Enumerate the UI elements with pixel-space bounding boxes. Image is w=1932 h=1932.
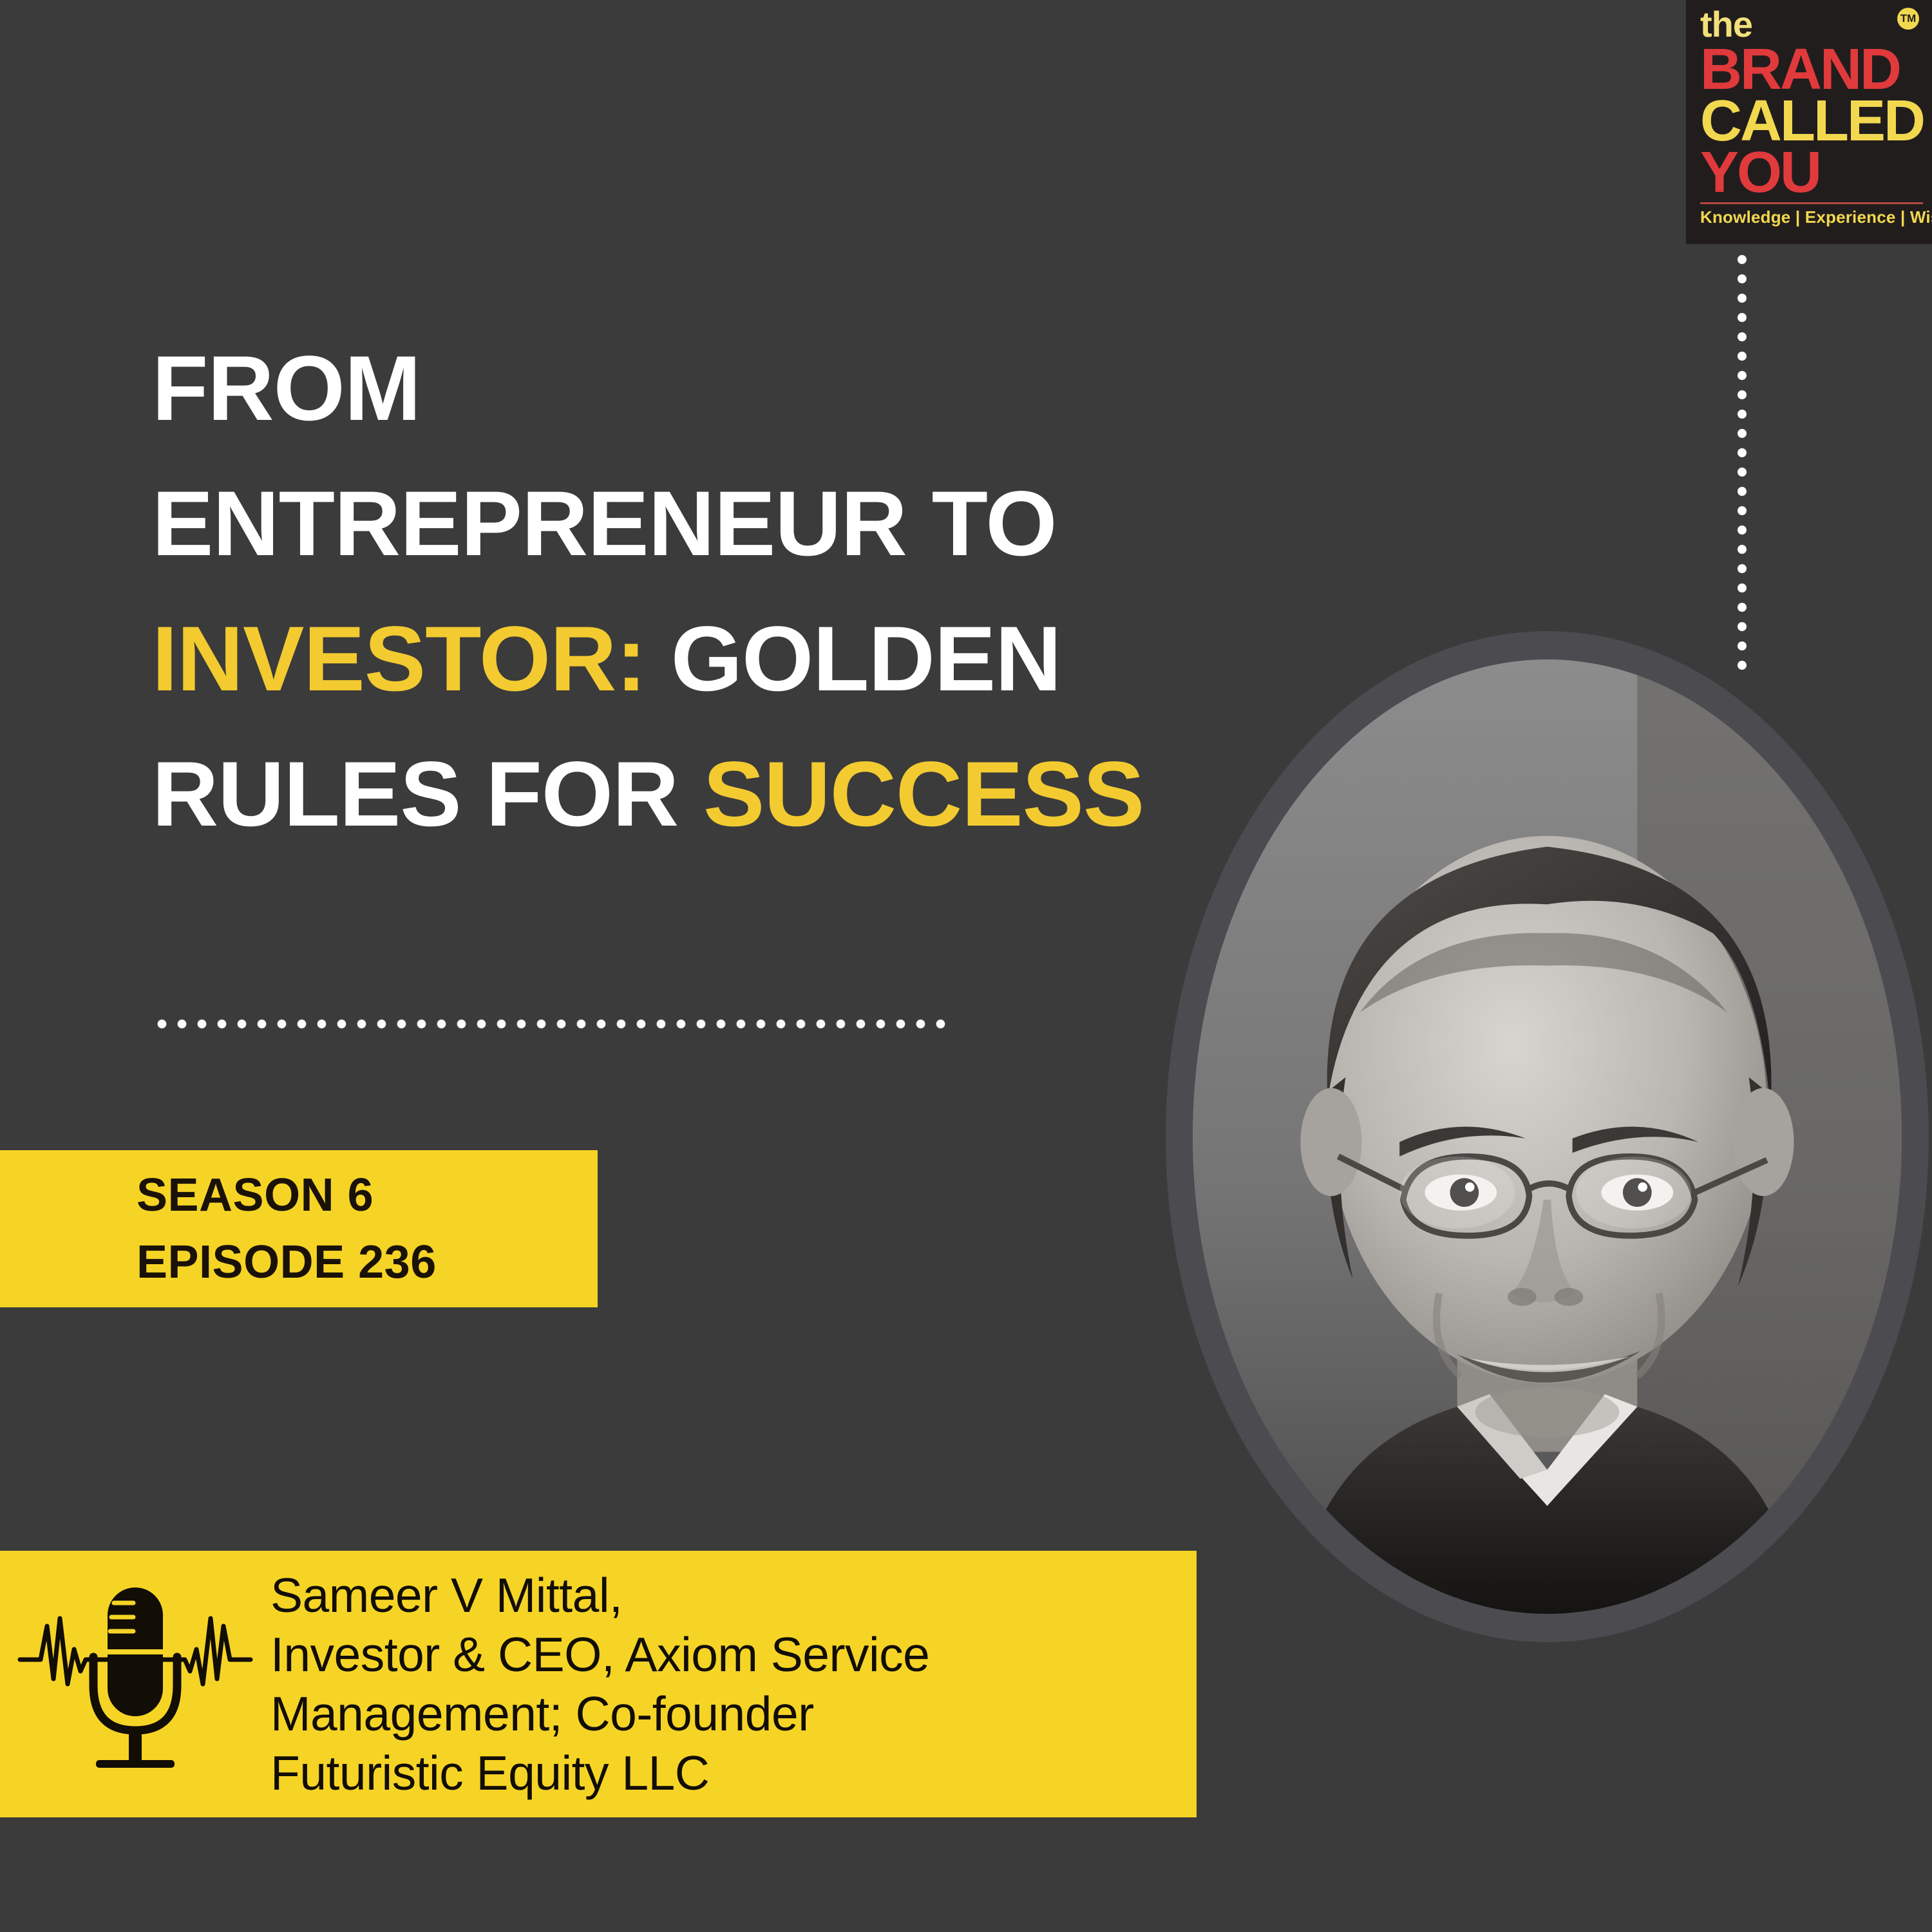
- brand-logo-called: CALLED: [1700, 95, 1923, 147]
- season-label: SEASON 6: [137, 1162, 598, 1229]
- episode-title: FROM ENTREPRENEUR TO INVESTOR: GOLDEN RU…: [152, 341, 1195, 842]
- portrait-illustration: [1193, 659, 1902, 1614]
- brand-logo: TM the BRAND CALLED YOU Knowledge | Expe…: [1686, 0, 1932, 244]
- guest-details: Sameer V Mittal, Investor & CEO, Axiom S…: [270, 1566, 1197, 1803]
- brand-logo-tagline: Knowledge | Experience | Wisdom: [1700, 207, 1923, 227]
- title-line-4-rest: RULES FOR: [152, 743, 703, 846]
- microphone-waveform-icon: [16, 1587, 254, 1781]
- brand-logo-inner: TM the BRAND CALLED YOU Knowledge | Expe…: [1700, 4, 1923, 244]
- trademark-icon: TM: [1897, 8, 1919, 30]
- title-accent-success: SUCCESS: [703, 743, 1144, 846]
- title-line-3-rest: GOLDEN: [646, 608, 1061, 710]
- podcast-cover-art: TM the BRAND CALLED YOU Knowledge | Expe…: [0, 0, 1932, 1932]
- brand-logo-you: YOU: [1700, 147, 1923, 198]
- brand-logo-brand: BRAND: [1700, 44, 1923, 95]
- guest-info-bar: Sameer V Mittal, Investor & CEO, Axiom S…: [0, 1551, 1197, 1817]
- microphone-icon: [0, 1587, 270, 1781]
- guest-role-line-3: Futuristic Equity LLC: [270, 1743, 1177, 1803]
- guest-role-line-2: Management; Co-founder: [270, 1684, 1177, 1743]
- portrait-photo: [1193, 659, 1902, 1614]
- title-line-2: ENTREPRENEUR TO: [152, 477, 1195, 572]
- episode-label: EPISODE 236: [137, 1229, 598, 1296]
- guest-name: Sameer V Mittal,: [270, 1566, 1177, 1625]
- title-accent-investor: INVESTOR:: [152, 608, 646, 710]
- vertical-dotted-line: [1736, 250, 1748, 675]
- title-line-4: RULES FOR SUCCESS: [152, 747, 1195, 842]
- season-episode-badge: SEASON 6 EPISODE 236: [0, 1150, 598, 1307]
- guest-portrait: [1166, 631, 1929, 1642]
- title-line-1: FROM: [152, 341, 1195, 437]
- title-line-3: INVESTOR: GOLDEN: [152, 612, 1195, 707]
- guest-role-line-1: Investor & CEO, Axiom Service: [270, 1625, 1177, 1684]
- dotted-divider: [152, 1018, 951, 1030]
